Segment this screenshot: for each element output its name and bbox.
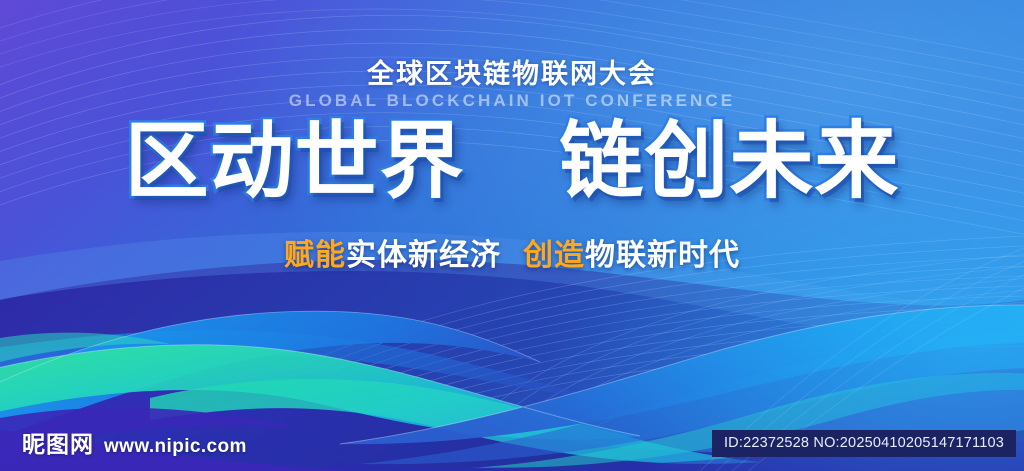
subhead-highlight-1: 赋能 [284, 239, 346, 272]
headline-part-2: 链创未来 [559, 114, 899, 208]
site-watermark: 昵图网 www.nipic.com [22, 425, 247, 459]
sub-headline: 赋能实体新经济创造物联新时代 [0, 230, 1024, 274]
conference-title-cn: 全球区块链物联网大会 [0, 52, 1024, 91]
watermark-brand-cn: 昵图网 [22, 425, 94, 459]
watermark-url: www.nipic.com [104, 436, 247, 458]
conference-title-en: GLOBAL BLOCKCHAIN IOT CONFERENCE [0, 91, 1024, 111]
headline-part-1: 区动世界 [125, 114, 465, 208]
image-id-badge: ID:22372528 NO:20250410205147171103 [712, 430, 1016, 457]
subhead-highlight-2: 创造 [523, 239, 585, 272]
subhead-plain-2: 物联新时代 [585, 239, 740, 272]
main-headline: 区动世界 链创未来 [0, 119, 1024, 203]
poster-text-content: 全球区块链物联网大会 GLOBAL BLOCKCHAIN IOT CONFERE… [0, 0, 1024, 471]
poster-canvas: 全球区块链物联网大会 GLOBAL BLOCKCHAIN IOT CONFERE… [0, 0, 1024, 471]
subhead-plain-1: 实体新经济 [346, 239, 501, 272]
